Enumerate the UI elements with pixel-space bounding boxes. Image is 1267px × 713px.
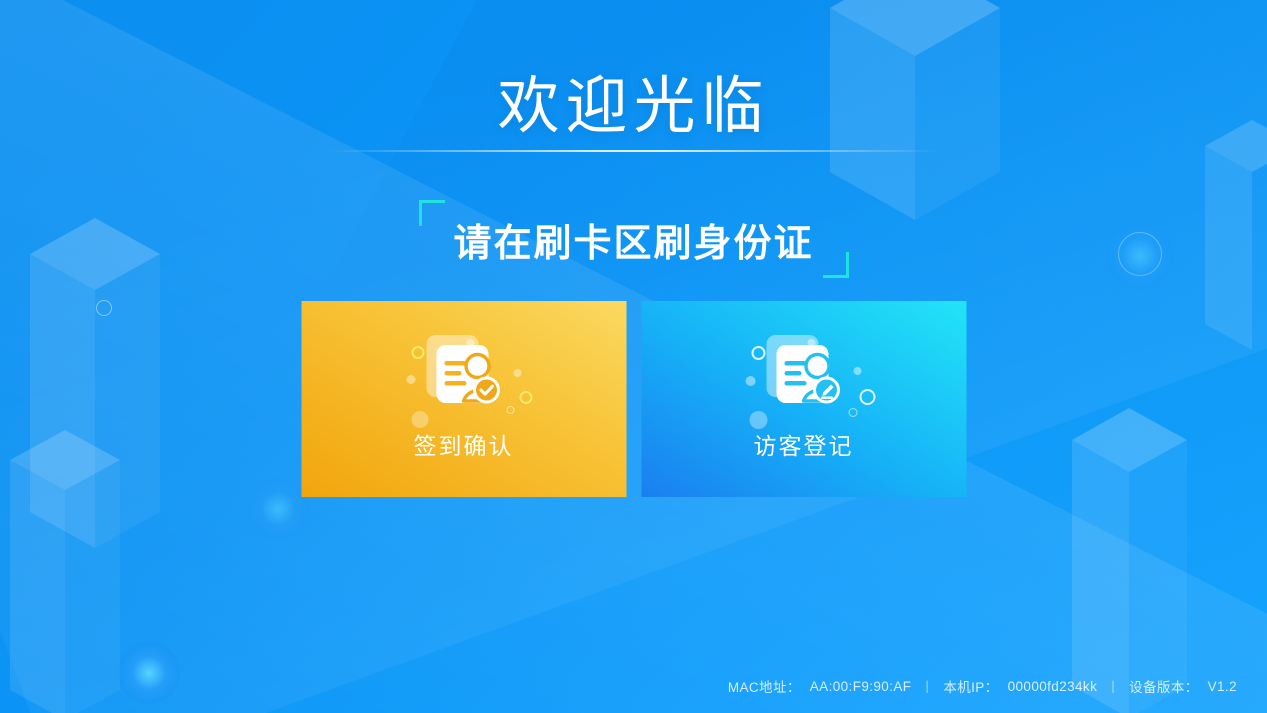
- subtitle-text: 请在刷卡区刷身份证: [419, 200, 849, 278]
- mac-address-label: MAC地址：: [728, 676, 801, 696]
- visitor-registration-card[interactable]: 访客登记: [641, 301, 966, 497]
- check-in-confirm-card[interactable]: 签到确认: [301, 301, 626, 497]
- welcome-kiosk-screen: 欢迎光临 请在刷卡区刷身份证: [0, 0, 1267, 713]
- card-deco-dot-1: [745, 376, 755, 386]
- id-card-edit-icon: [761, 331, 847, 411]
- device-version-label: 设备版本：: [1129, 676, 1199, 696]
- footer-separator-1: 丨: [920, 676, 934, 696]
- iso-pillar-right: [1072, 408, 1187, 713]
- glow-orb-right: [1106, 222, 1174, 290]
- action-card-list: 签到确认: [301, 301, 966, 497]
- visitor-registration-label: 访客登记: [754, 427, 854, 461]
- glow-orb-bottom-left: [118, 642, 180, 704]
- id-card-check-icon: [421, 331, 507, 411]
- mac-address-value: AA:00:F9:90:AF: [810, 679, 912, 694]
- card-deco-ring-2: [519, 391, 532, 404]
- footer-separator-2: 丨: [1106, 676, 1120, 696]
- ring-right: [1118, 232, 1162, 276]
- ip-address-value: 00000fd234kk: [1008, 679, 1098, 694]
- device-info-footer: MAC地址： AA:00:F9:90:AF 丨 本机IP： 00000fd234…: [728, 676, 1237, 696]
- page-title: 欢迎光临: [0, 55, 1267, 145]
- card-deco-ring-3: [506, 406, 514, 414]
- device-version-value: V1.2: [1208, 679, 1237, 694]
- ip-address-label: 本机IP：: [943, 676, 998, 696]
- iso-pillar-left-lower: [10, 430, 120, 713]
- card-deco-ring-3: [848, 408, 857, 417]
- card-deco-dot-4: [853, 367, 861, 375]
- card-deco-ring-2: [859, 389, 875, 405]
- iso-pillar-left-upper: [30, 218, 160, 548]
- ring-left-small: [96, 300, 112, 316]
- iso-pillar-far-right: [1205, 120, 1267, 350]
- card-deco-dot-4: [513, 369, 521, 377]
- subtitle-container: 请在刷卡区刷身份证: [419, 200, 849, 278]
- card-deco-dot-2: [411, 411, 428, 428]
- check-in-confirm-label: 签到确认: [414, 427, 514, 461]
- glow-orb-mid-left: [247, 478, 309, 540]
- title-divider: [328, 150, 940, 152]
- card-deco-dot-1: [406, 375, 415, 384]
